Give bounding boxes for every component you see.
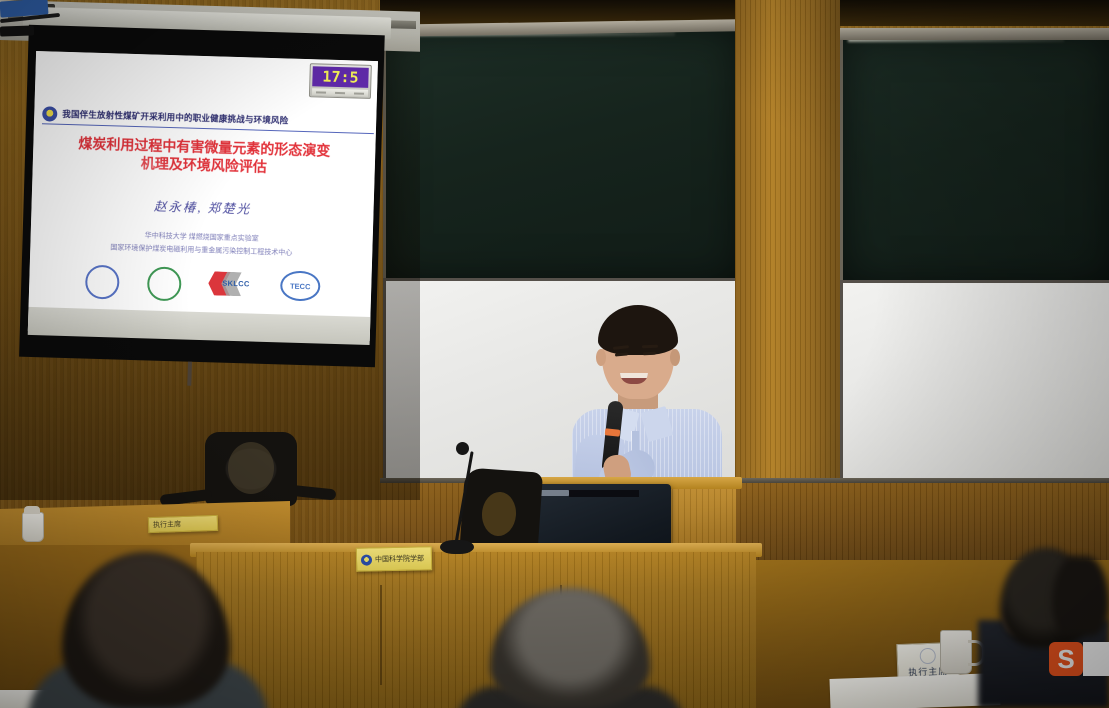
tecc-label: TECC bbox=[290, 281, 311, 291]
slide-logo-row: SKLCC TECC bbox=[29, 263, 372, 303]
projection-screen-surface: 17:5 我国伴生放射性煤矿开采利用中的职业健康挑战与环境风险 煤炭利用过程中有… bbox=[28, 51, 378, 341]
chalkboard-left bbox=[383, 26, 741, 284]
slide-header-text: 我国伴生放射性煤矿开采利用中的职业健康挑战与环境风险 bbox=[62, 108, 288, 127]
sohu-watermark-letter: S bbox=[1049, 642, 1083, 676]
tea-mug-left-lid bbox=[24, 506, 40, 514]
presenter-hair bbox=[598, 305, 678, 355]
slide-title: 煤炭利用过程中有害微量元素的形态演变 机理及环境风险评估 bbox=[33, 133, 376, 180]
projection-screen-assembly: 17:5 我国伴生放射性煤矿开采利用中的职业健康挑战与环境风险 煤炭利用过程中有… bbox=[13, 7, 392, 380]
sohu-watermark: S bbox=[1049, 642, 1109, 676]
tecc-oval-ring: TECC bbox=[280, 270, 321, 301]
slide-affiliations: 华中科技大学 煤燃烧国家重点实验室 国家环境保护煤炭电磁利用与重金属污染控制工程… bbox=[30, 227, 373, 263]
nameplate-desk-left-text: 执行主席 bbox=[153, 519, 181, 530]
presentation-slide: 17:5 我国伴生放射性煤矿开采利用中的职业健康挑战与环境风险 煤炭利用过程中有… bbox=[28, 51, 378, 341]
timer-face: 17:5 bbox=[312, 66, 369, 88]
audience-member-head-far-right bbox=[1052, 556, 1109, 636]
gooseneck-microphone-icon bbox=[440, 440, 474, 556]
nameplate-desk-left: 执行主席 bbox=[148, 515, 218, 533]
chalkboard-right-frame bbox=[838, 28, 1109, 40]
whiteboard-right bbox=[840, 280, 1109, 491]
presenter-teeth bbox=[620, 373, 648, 378]
photo-scene: 17:5 我国伴生放射性煤矿开采利用中的职业健康挑战与环境风险 煤炭利用过程中有… bbox=[0, 0, 1109, 708]
nameplate-seal-icon bbox=[919, 648, 936, 665]
monitor-bezel-bar bbox=[569, 490, 639, 497]
monitor-brand-logo bbox=[539, 490, 569, 496]
microphone-stem bbox=[454, 451, 474, 546]
nameplate-podium: 中国科学院学部 bbox=[356, 546, 432, 572]
presenter-ear-right bbox=[670, 349, 680, 366]
university-seal-ring bbox=[85, 265, 120, 300]
environment-green-logo bbox=[146, 266, 183, 297]
microphone-capsule bbox=[456, 442, 469, 455]
tea-mug-left bbox=[22, 512, 44, 542]
mobile-phone bbox=[0, 25, 34, 36]
timer-digits: 17:5 bbox=[322, 68, 359, 87]
sklcc-label: SKLCC bbox=[222, 279, 250, 289]
presenter-ear-left bbox=[596, 349, 606, 366]
nameplate-emblem-icon bbox=[361, 554, 372, 565]
university-seal-logo bbox=[84, 265, 121, 296]
countdown-timer-display: 17:5 bbox=[309, 63, 372, 99]
presenter-eyebrow-right bbox=[642, 345, 658, 349]
office-chair-cutout-left bbox=[228, 442, 274, 494]
screen-stand-pole bbox=[187, 362, 192, 386]
microphone-base bbox=[440, 540, 474, 554]
nameplate-podium-text: 中国科学院学部 bbox=[375, 553, 424, 564]
desk-panel-seam bbox=[380, 585, 382, 685]
chalkboard-right bbox=[840, 32, 1109, 286]
environment-green-ring bbox=[147, 266, 182, 301]
desk-center-front bbox=[196, 552, 756, 708]
sohu-watermark-tail bbox=[1083, 642, 1109, 676]
tecc-oval-logo: TECC bbox=[280, 270, 317, 301]
star-emblem-icon bbox=[42, 106, 57, 121]
wood-pillar bbox=[735, 0, 840, 512]
sklcc-hexagon-logo: SKLCC bbox=[208, 268, 255, 299]
microphone-orange-band bbox=[605, 428, 621, 437]
document-papers-right bbox=[829, 673, 1000, 708]
slide-authors: 赵永椿, 郑楚光 bbox=[31, 192, 373, 221]
timer-base bbox=[312, 88, 368, 97]
slide-header: 我国伴生放射性煤矿开采利用中的职业健康挑战与环境风险 bbox=[42, 103, 374, 134]
